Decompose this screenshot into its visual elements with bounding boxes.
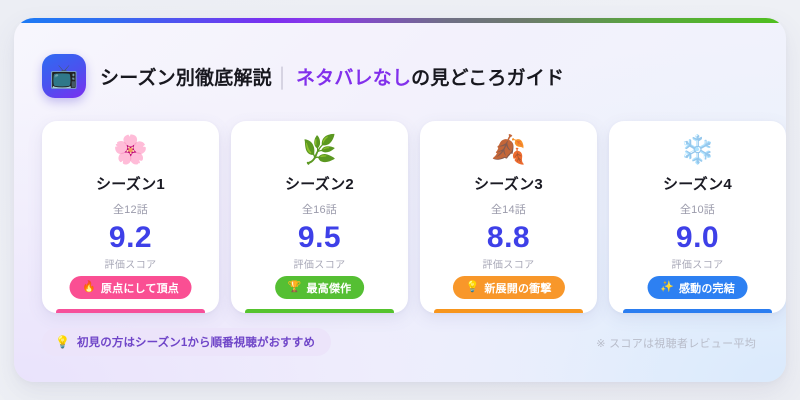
season-name: シーズン4 xyxy=(663,173,732,194)
fire-icon: 🔥 xyxy=(82,282,96,293)
status-badge[interactable]: ✨ 感動の完結 xyxy=(647,276,748,299)
season-card-list: 🌸 シーズン1 全12話 9.2 評価スコア 🔥 原点にして頂点 🌿 シーズン2… xyxy=(42,121,786,313)
cherry-blossom-icon: 🌸 xyxy=(113,135,148,167)
card-accent-bar xyxy=(245,309,394,313)
light-bulb-icon: 💡 xyxy=(465,282,479,293)
tv-icon: 📺 xyxy=(42,54,86,98)
episode-count: 全16話 xyxy=(302,201,337,217)
status-badge-label: 新展開の衝撃 xyxy=(484,280,551,296)
season-card[interactable]: 🌸 シーズン1 全12話 9.2 評価スコア 🔥 原点にして頂点 xyxy=(42,121,219,313)
fallen-leaf-icon: 🍂 xyxy=(491,135,526,167)
score-value: 9.2 xyxy=(109,221,152,255)
recommendation-note: 💡 初見の方はシーズン1から順番視聴がおすすめ xyxy=(42,328,331,356)
score-label: 評価スコア xyxy=(672,256,724,271)
trophy-icon: 🏆 xyxy=(288,282,302,293)
herb-icon: 🌿 xyxy=(302,135,337,167)
main-panel: 📺 シーズン別徹底解説│ネタバレなしの見どころガイド 🌸 シーズン1 全12話 … xyxy=(14,18,786,382)
status-badge-label: 原点にして頂点 xyxy=(101,280,179,296)
season-name: シーズン1 xyxy=(96,173,165,194)
score-value: 9.0 xyxy=(676,221,719,255)
sparkles-icon: ✨ xyxy=(660,282,674,293)
page-title-tail: の見どころガイド xyxy=(411,68,564,89)
status-badge-label: 感動の完結 xyxy=(679,280,735,296)
season-name: シーズン2 xyxy=(285,173,354,194)
status-badge[interactable]: 🔥 原点にして頂点 xyxy=(69,276,192,299)
header: 📺 シーズン別徹底解説│ネタバレなしの見どころガイド xyxy=(42,54,564,98)
page-title-main: シーズン別徹底解説 xyxy=(100,68,272,89)
page-title: シーズン別徹底解説│ネタバレなしの見どころガイド xyxy=(100,63,564,90)
season-card[interactable]: 🍂 シーズン3 全14話 8.8 評価スコア 💡 新展開の衝撃 xyxy=(420,121,597,313)
episode-count: 全12話 xyxy=(113,201,148,217)
light-bulb-icon: 💡 xyxy=(55,336,70,348)
status-badge[interactable]: 💡 新展開の衝撃 xyxy=(452,276,564,299)
card-accent-bar xyxy=(56,309,205,313)
snowflake-icon: ❄️ xyxy=(680,135,715,167)
status-badge[interactable]: 🏆 最高傑作 xyxy=(275,276,365,299)
screenshot-root: 📺 シーズン別徹底解説│ネタバレなしの見どころガイド 🌸 シーズン1 全12話 … xyxy=(0,0,800,400)
tv-icon-glyph: 📺 xyxy=(50,65,79,88)
card-accent-bar xyxy=(623,309,772,313)
card-accent-bar xyxy=(434,309,583,313)
score-value: 9.5 xyxy=(298,221,341,255)
status-badge-label: 最高傑作 xyxy=(307,280,352,296)
score-value: 8.8 xyxy=(487,221,530,255)
episode-count: 全14話 xyxy=(491,201,526,217)
page-title-accent: ネタバレなし xyxy=(296,68,411,89)
score-label: 評価スコア xyxy=(294,256,346,271)
score-disclaimer: ※ スコアは視聴者レビュー平均 xyxy=(596,335,756,351)
score-label: 評価スコア xyxy=(483,256,535,271)
episode-count: 全10話 xyxy=(680,201,715,217)
season-card[interactable]: 🌿 シーズン2 全16話 9.5 評価スコア 🏆 最高傑作 xyxy=(231,121,408,313)
recommendation-note-label: 初見の方はシーズン1から順番視聴がおすすめ xyxy=(77,334,315,350)
season-name: シーズン3 xyxy=(474,173,543,194)
page-title-separator: │ xyxy=(277,68,289,89)
season-card[interactable]: ❄️ シーズン4 全10話 9.0 評価スコア ✨ 感動の完結 xyxy=(609,121,786,313)
score-label: 評価スコア xyxy=(105,256,157,271)
panel-gradient-bar xyxy=(14,18,786,23)
